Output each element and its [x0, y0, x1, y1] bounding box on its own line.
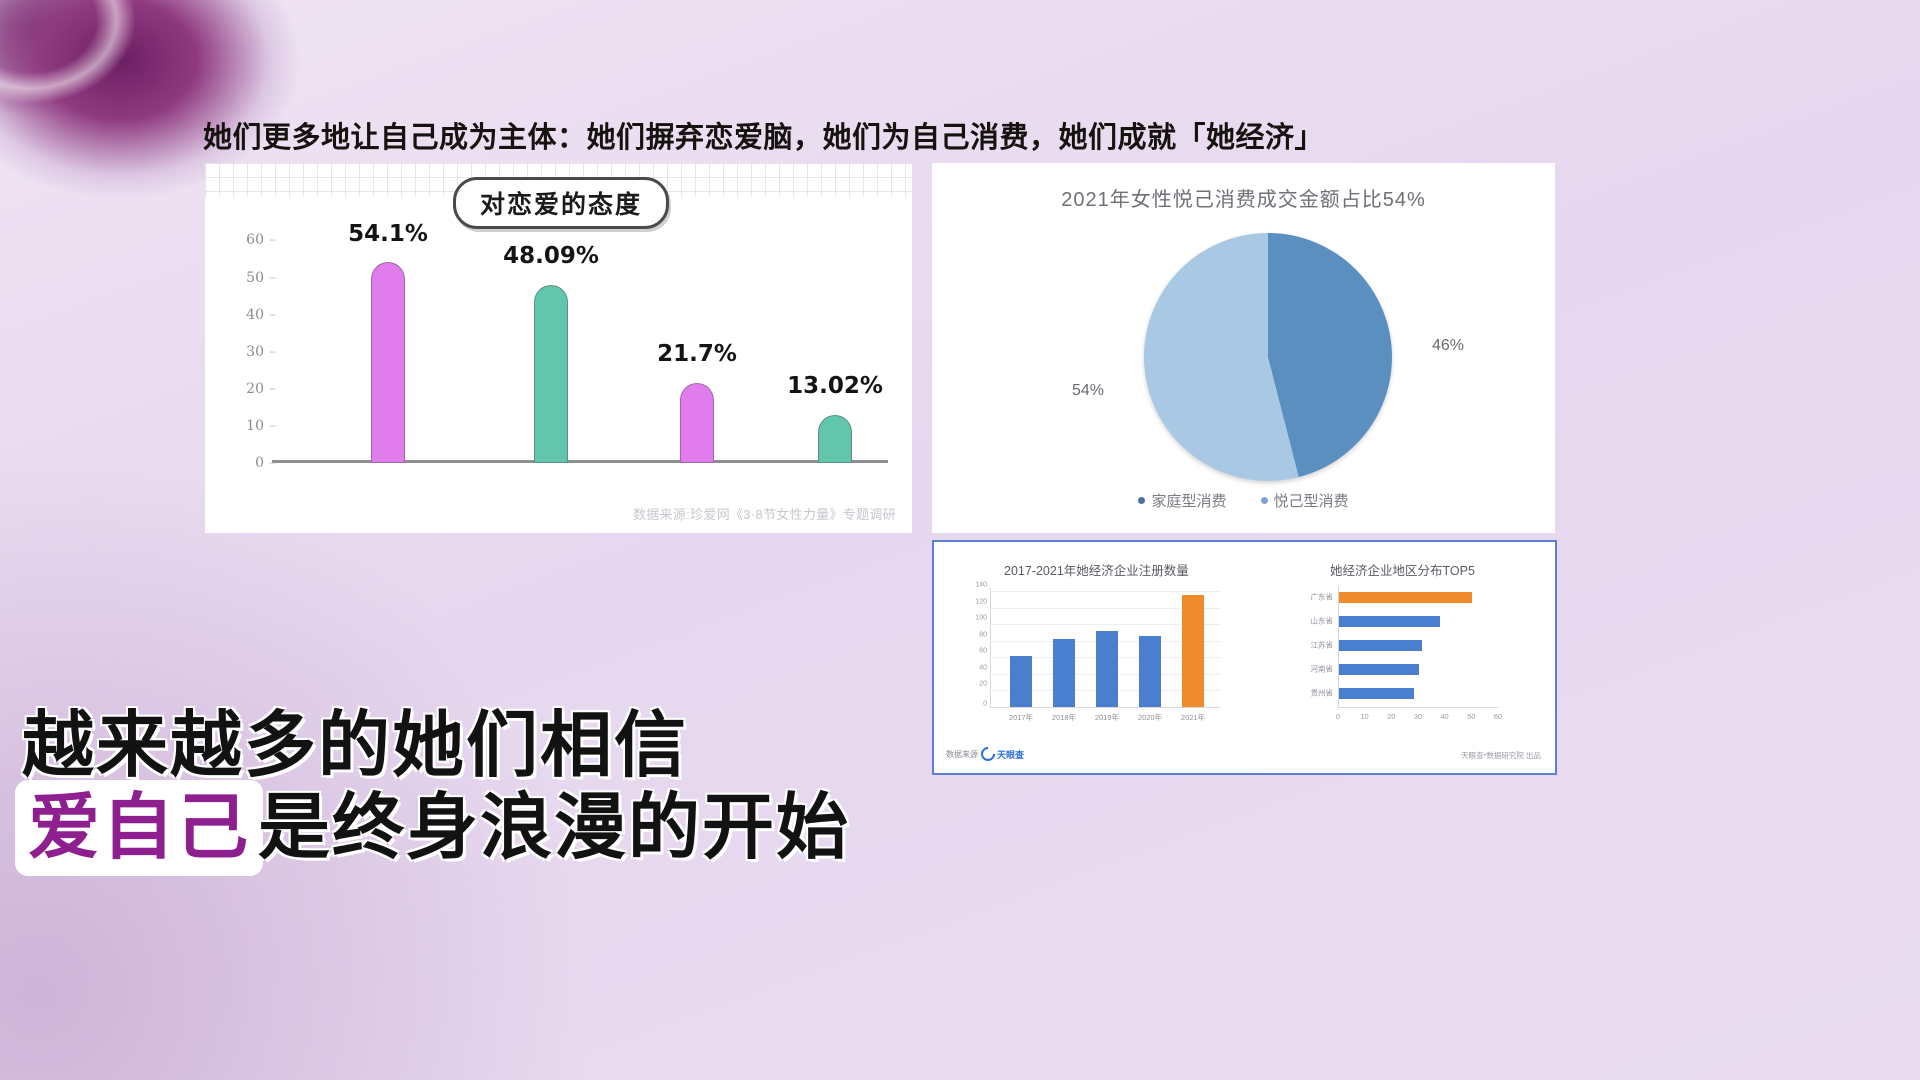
y-tick-50: 50–: [246, 270, 280, 286]
bar-value-1: 48.09%: [503, 243, 599, 269]
bar-chart-plot: 0– 10– 20– 30– 40– 50– 60– 54.1% 48.09% …: [280, 233, 880, 463]
bar-1: [534, 285, 568, 463]
hbar-x-tick-30: 30: [1414, 712, 1422, 721]
y-tick-30: 30–: [246, 344, 280, 360]
hbar-jiangsu: [1339, 640, 1422, 651]
slogan-line-2: 爱自己 是终身浪漫的开始: [22, 787, 1142, 869]
hbar-shandong: [1339, 616, 1440, 627]
page-headline: 她们更多地让自己成为主体：她们摒弃恋爱脑，她们为自己消费，她们成就「她经济」: [203, 116, 1703, 160]
hbar-x-tick-10: 10: [1360, 712, 1368, 721]
pie-legend-item-0: 家庭型消费: [1138, 490, 1226, 511]
slogan-overlay: 越来越多的她们相信 爱自己 是终身浪漫的开始: [22, 705, 1142, 869]
col-y-tick-140: 140: [975, 582, 990, 589]
bar-0: [371, 262, 405, 463]
y-tick-10: 10–: [246, 418, 280, 434]
bar-value-2: 21.7%: [657, 341, 737, 367]
pie-chart-title: 2021年女性悦己消费成交金额占比54%: [932, 183, 1555, 212]
combo-credit-note: 天眼查*数据研究院 出品: [1461, 750, 1541, 761]
hbar-guizhou: [1339, 688, 1414, 699]
attitudes-bar-chart-card: 对恋爱的态度 0– 10– 20– 30– 40– 50– 60– 54.1% …: [205, 163, 912, 533]
hbar-x-tick-60: 60: [1494, 712, 1502, 721]
y-tick-60: 60–: [246, 232, 280, 248]
hbar-x-tick-20: 20: [1387, 712, 1395, 721]
bar-2: [680, 383, 714, 464]
pie-legend-label-0: 家庭型消费: [1151, 490, 1226, 511]
hbar-x-tick-0: 0: [1336, 712, 1340, 721]
pie-chart: [1144, 233, 1392, 481]
legend-dot-icon-0: [1138, 497, 1145, 504]
bar-value-0: 54.1%: [348, 221, 428, 247]
col-y-tick-120: 120: [975, 598, 990, 605]
col-x-label-2021: 2021年: [1181, 712, 1205, 723]
col-y-tick-60: 60: [979, 648, 990, 655]
hbar-guangdong: [1339, 592, 1472, 603]
hbar-label-jiangsu: 江苏省: [1311, 640, 1339, 651]
col-bar-2019: [1096, 631, 1118, 707]
col-bar-2020: [1139, 636, 1161, 707]
bar-chart-title: 对恋爱的态度: [453, 177, 669, 229]
pie-legend-label-1: 悦己型消费: [1274, 490, 1349, 511]
slogan-highlight: 爱自己: [22, 787, 256, 869]
hbar-label-shandong: 山东省: [1311, 616, 1339, 627]
col-y-tick-20: 20: [979, 681, 990, 688]
col-bar-2021: [1182, 595, 1204, 707]
slogan-line-1: 越来越多的她们相信: [22, 705, 1142, 787]
legend-dot-icon-1: [1261, 497, 1268, 504]
bar-chart-source-note: 数据来源:珍爱网《3·8节女性力量》专题调研: [633, 504, 896, 523]
hbar-label-henan: 河南省: [1311, 664, 1339, 675]
hbar-x-tick-40: 40: [1440, 712, 1448, 721]
region-horizontal-bar-chart: 广东省 山东省 江苏省 河南省 贵州省 0 10 20 30 40 50 60: [1338, 586, 1498, 708]
registration-chart-title: 2017-2021年她经济企业注册数量: [1004, 560, 1189, 579]
region-chart-title: 她经济企业地区分布TOP5: [1330, 560, 1475, 579]
col-y-tick-100: 100: [975, 615, 990, 622]
y-tick-20: 20–: [246, 381, 280, 397]
bar-value-3: 13.02%: [787, 373, 883, 399]
self-pleasing-consumption-pie-card: 2021年女性悦己消费成交金额占比54% 46% 54% 家庭型消费 悦己型消费: [932, 163, 1555, 533]
pie-legend: 家庭型消费 悦己型消费: [932, 490, 1555, 511]
pie-value-label-54: 54%: [1072, 382, 1104, 400]
col-bar-2018: [1053, 639, 1075, 707]
bar-3: [818, 415, 852, 463]
slogan-line-2-rest: 是终身浪漫的开始: [258, 787, 850, 869]
col-bar-2017: [1010, 656, 1032, 707]
hbar-henan: [1339, 664, 1419, 675]
hbar-x-tick-50: 50: [1467, 712, 1475, 721]
hbar-x-axis: [1338, 707, 1498, 708]
pie-value-label-46: 46%: [1432, 337, 1464, 355]
hbar-label-guangdong: 广东省: [1311, 592, 1339, 603]
y-tick-0: 0–: [255, 455, 280, 471]
pie-legend-item-1: 悦己型消费: [1261, 490, 1349, 511]
col-y-tick-80: 80: [979, 631, 990, 638]
col-y-tick-40: 40: [979, 664, 990, 671]
gridline-140: [990, 591, 1220, 592]
hbar-label-guizhou: 贵州省: [1311, 688, 1339, 699]
registration-column-chart: 0 20 40 60 80 100 120 140 2017年 2018年 20…: [990, 588, 1220, 708]
x-axis-line: [272, 460, 888, 463]
y-tick-40: 40–: [246, 307, 280, 323]
